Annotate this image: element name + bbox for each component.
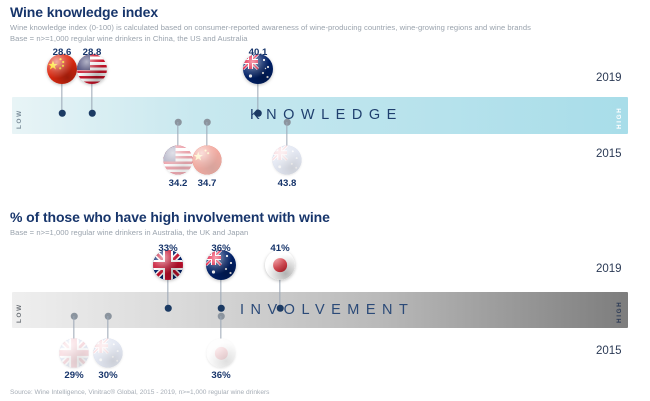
flag-us-icon (77, 54, 107, 84)
stem-jp-2015 (220, 316, 221, 340)
value-au-2015-b: 30% (98, 370, 117, 381)
stem-uk-2015 (73, 316, 74, 340)
value-uk-2015: 29% (64, 370, 83, 381)
section1-subtitle-2: Base = n>=1,000 regular wine drinkers in… (10, 34, 247, 43)
marker-china-2015[interactable] (193, 146, 222, 175)
marker-japan-2015[interactable] (207, 339, 236, 368)
knowledge-axis-high-label: HIGH (617, 103, 623, 129)
stem-us-2015 (177, 122, 178, 148)
stem-au-2019 (257, 80, 258, 113)
infographic-root: { "chart_data": [ { "type": "scatter", "… (0, 0, 650, 401)
involvement-axis-high-label: HIGH (617, 298, 623, 323)
stem-cn-2015 (206, 122, 207, 148)
dot-cn-2019 (59, 110, 66, 117)
involvement-year-2015: 2015 (596, 345, 622, 357)
marker-us-2019[interactable] (77, 54, 107, 84)
dot-au-2019 (255, 110, 262, 117)
flag-us-icon (164, 146, 193, 175)
value-cn-2019: 28.6 (53, 47, 72, 58)
knowledge-scale-text: KNOWLEDGE (250, 107, 403, 123)
knowledge-year-2019: 2019 (596, 72, 622, 84)
involvement-year-2019: 2019 (596, 263, 622, 275)
flag-australia-icon (273, 146, 302, 175)
dot-uk-2019 (165, 305, 172, 312)
flag-uk-icon (60, 339, 89, 368)
stem-au-2015 (286, 122, 287, 148)
flag-uk-icon (153, 250, 183, 280)
involvement-scale-text: INVOLVEMENT (240, 302, 414, 318)
knowledge-year-2015: 2015 (596, 148, 622, 160)
dot-jp-2019 (277, 305, 284, 312)
dot-us-2019 (89, 110, 96, 117)
value-uk-2019: 33% (158, 243, 177, 254)
flag-australia-icon (206, 250, 236, 280)
stem-au-2015-b (107, 316, 108, 340)
flag-japan-icon (265, 250, 295, 280)
section1-subtitle-1: Wine knowledge index (0-100) is calculat… (10, 23, 531, 32)
value-au-2019: 40.1 (249, 47, 268, 58)
section2-subtitle-1: Base = n>=1,000 regular wine drinkers in… (10, 228, 248, 237)
stem-cn-2019 (61, 80, 62, 113)
flag-japan-icon (207, 339, 236, 368)
marker-us-2015[interactable] (164, 146, 193, 175)
marker-japan-2019[interactable] (265, 250, 295, 280)
value-jp-2015: 36% (211, 370, 230, 381)
marker-australia-2015[interactable] (273, 146, 302, 175)
marker-australia-2019[interactable] (243, 54, 273, 84)
flag-australia-icon (243, 54, 273, 84)
marker-china-2019[interactable] (47, 54, 77, 84)
flag-china-icon (193, 146, 222, 175)
value-au-2019-b: 36% (211, 243, 230, 254)
flag-china-icon (47, 54, 77, 84)
stem-us-2019 (91, 80, 92, 113)
value-cn-2015: 34.7 (198, 178, 217, 189)
section1-title: Wine knowledge index (10, 4, 158, 20)
marker-australia-2019-b[interactable] (206, 250, 236, 280)
flag-australia-icon (94, 339, 123, 368)
dot-au-2019-b (218, 305, 225, 312)
source-note: Source: Wine Intelligence, Vinitrac® Glo… (10, 389, 269, 396)
marker-australia-2015-b[interactable] (94, 339, 123, 368)
marker-uk-2015[interactable] (60, 339, 89, 368)
value-us-2019: 28.8 (83, 47, 102, 58)
value-au-2015: 43.8 (278, 178, 297, 189)
knowledge-axis-low-label: LOW (17, 103, 23, 129)
marker-uk-2019[interactable] (153, 250, 183, 280)
section2-title: % of those who have high involvement wit… (10, 209, 330, 225)
value-us-2015: 34.2 (169, 178, 188, 189)
involvement-axis-low-label: LOW (17, 298, 23, 323)
value-jp-2019: 41% (270, 243, 289, 254)
